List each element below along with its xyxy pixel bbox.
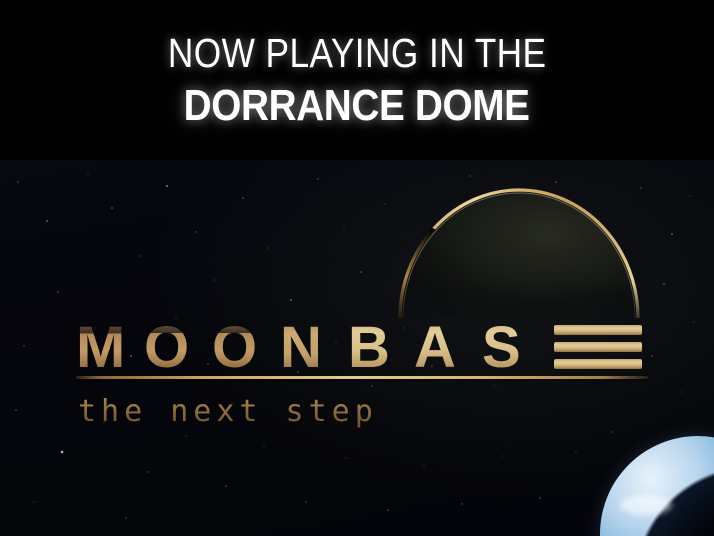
now-playing-header: NOW PLAYING IN THE DORRANCE DOME bbox=[0, 0, 714, 160]
venue-title: DORRANCE DOME bbox=[184, 84, 530, 128]
hero-space-scene: M O O N B A S the next bbox=[0, 160, 714, 536]
now-playing-eyebrow: NOW PLAYING IN THE bbox=[168, 33, 547, 74]
lunar-dome-arc bbox=[396, 178, 642, 318]
poster-screen: NOW PLAYING IN THE DORRANCE DOME bbox=[0, 0, 714, 536]
